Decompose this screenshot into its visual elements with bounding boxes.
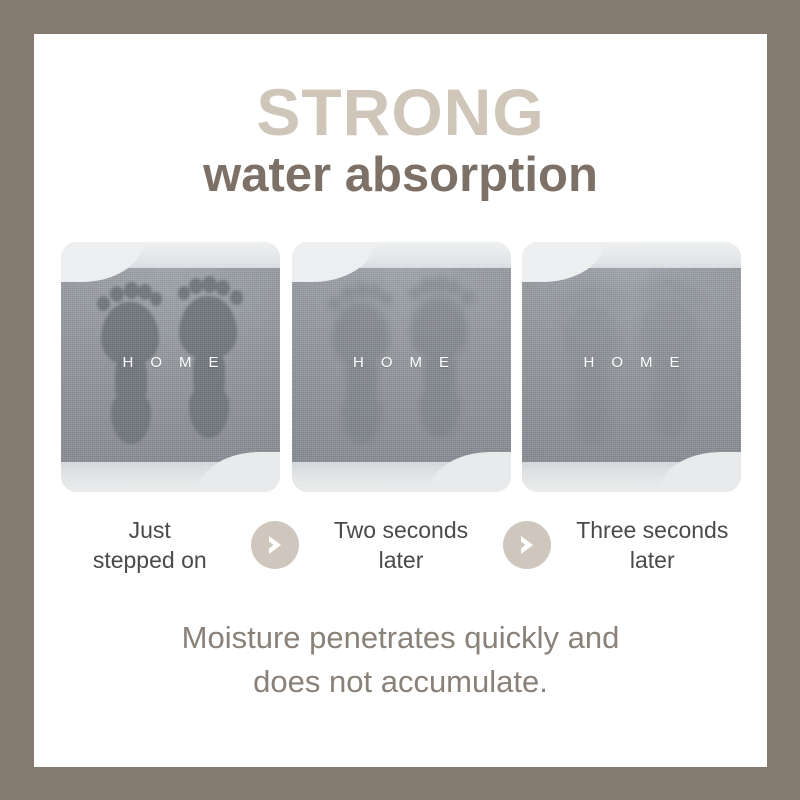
chevron-right-icon: [503, 521, 551, 569]
timeline-row: Just stepped on Two seconds later: [61, 506, 741, 584]
mat-image-3: HOME: [522, 242, 741, 492]
step-caption-1: Just stepped on: [61, 515, 238, 576]
mat-wordmark: HOME: [522, 354, 741, 371]
mat-wordmark: HOME: [61, 354, 280, 371]
step-caption-1-line1: Just: [61, 515, 238, 545]
step-caption-3-line1: Three seconds: [564, 515, 741, 545]
mat-wordmark: HOME: [292, 354, 511, 371]
mat-image-2: HOME: [292, 242, 511, 492]
mat-gallery: HOME: [61, 242, 741, 497]
mat-image-1: HOME: [61, 242, 280, 492]
content-card: STRONG water absorption: [34, 34, 767, 767]
tagline-line2: does not accumulate.: [34, 660, 767, 704]
step-caption-2: Two seconds later: [312, 515, 489, 576]
page-title: STRONG water absorption: [34, 79, 767, 204]
step-arrow-2: [490, 521, 564, 569]
step-caption-3-line2: later: [564, 545, 741, 575]
outer-frame: STRONG water absorption: [0, 0, 800, 800]
tagline: Moisture penetrates quickly and does not…: [34, 616, 767, 704]
step-caption-3: Three seconds later: [564, 515, 741, 576]
step-caption-1-line2: stepped on: [61, 545, 238, 575]
tagline-line1: Moisture penetrates quickly and: [34, 616, 767, 660]
step-caption-2-line2: later: [312, 545, 489, 575]
step-caption-2-line1: Two seconds: [312, 515, 489, 545]
headline-strong: STRONG: [34, 79, 767, 146]
step-arrow-1: [238, 521, 312, 569]
headline-subtitle: water absorption: [34, 148, 767, 204]
chevron-right-icon: [251, 521, 299, 569]
